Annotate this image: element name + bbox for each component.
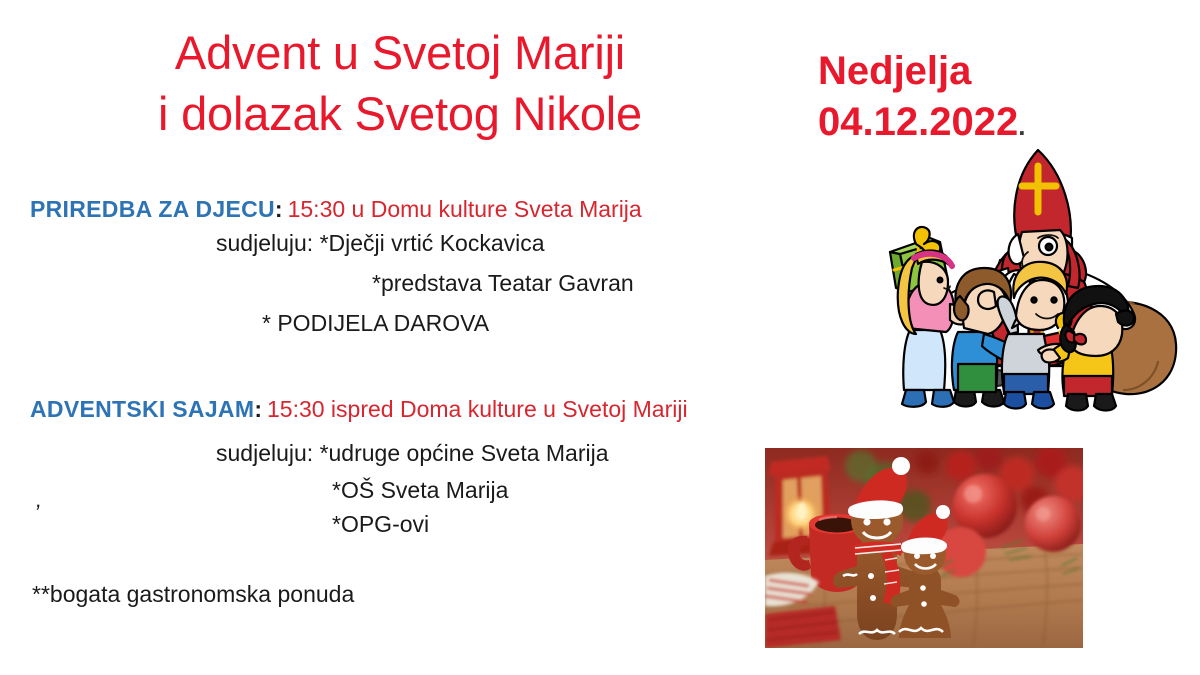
section-2-label: ADVENTSKI SAJAM [30, 396, 254, 422]
section-2-line-1: sudjeluju: *udruge općine Sveta Marija [216, 442, 609, 465]
section-2-headline: ADVENTSKI SAJAM:15:30 ispred Doma kultur… [30, 396, 688, 422]
section-1-line-2: *predstava Teatar Gavran [372, 272, 634, 295]
section-2-line-3: *OPG-ovi [332, 513, 429, 536]
page-title: Advent u Svetoj Mariji i dolazak Svetog … [0, 22, 800, 144]
advent-poster: Advent u Svetoj Mariji i dolazak Svetog … [0, 0, 1200, 675]
section-1-line-3: * PODIJELA DAROVA [262, 312, 489, 335]
section-children-program: PRIREDBA ZA DJECU:15:30 u Domu kulture S… [30, 196, 642, 222]
section-1-line-1: sudjeluju: *Dječji vrtić Kockavica [216, 232, 545, 255]
section-2-colon: : [254, 396, 262, 422]
section-2-detail: 15:30 ispred Doma kulture u Svetoj Marij… [262, 396, 688, 422]
stray-comma-mark: , [34, 487, 44, 514]
gingerbread-christmas-photo [765, 448, 1083, 648]
section-1-colon: : [275, 196, 283, 222]
section-1-headline: PRIREDBA ZA DJECU:15:30 u Domu kulture S… [30, 196, 642, 222]
date-weekday: Nedjelja [818, 49, 971, 93]
section-advent-fair: ADVENTSKI SAJAM:15:30 ispred Doma kultur… [30, 396, 688, 422]
title-line-1: Advent u Svetoj Mariji [175, 26, 625, 79]
section-1-label: PRIREDBA ZA DJECU [30, 196, 275, 222]
section-2-line-2: *OŠ Sveta Marija [332, 479, 508, 502]
footer-note: **bogata gastronomska ponuda [32, 581, 354, 608]
section-1-detail: 15:30 u Domu kulture Sveta Marija [283, 196, 642, 222]
title-line-2: i dolazak Svetog Nikole [0, 83, 800, 144]
saint-nicholas-with-children-clipart [888, 128, 1188, 418]
